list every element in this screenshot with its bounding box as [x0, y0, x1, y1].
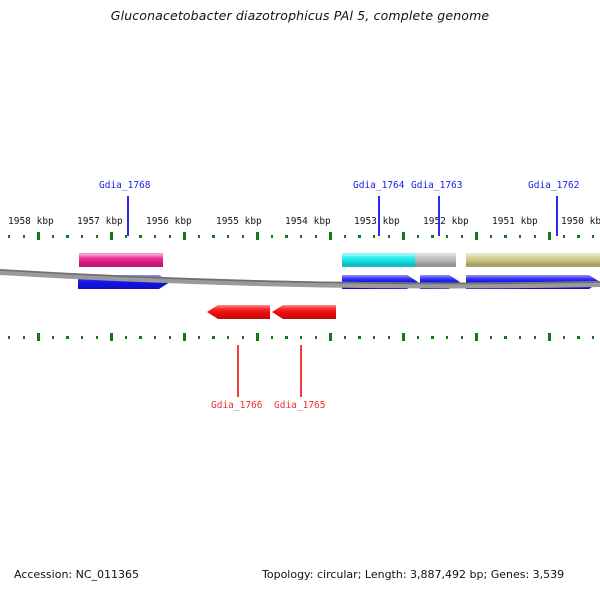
gene-density-dot [431, 336, 433, 339]
gene-density-dot [169, 336, 171, 339]
gene-density-dot [300, 235, 302, 238]
gene-label-gdia_1766[interactable]: Gdia_1766 [211, 400, 262, 411]
gene-density-dot [227, 336, 229, 339]
gene-density-tick [183, 232, 186, 240]
gene-density-dot [344, 235, 346, 238]
gene-density-dot [534, 336, 536, 339]
gene-density-tick [37, 232, 40, 240]
gene-density-tick [548, 232, 551, 240]
gene-density-dot [592, 336, 594, 339]
page-title: Gluconacetobacter diazotrophicus PAl 5, … [0, 8, 600, 23]
genome-viewer-canvas: Gluconacetobacter diazotrophicus PAl 5, … [0, 0, 600, 600]
ruler-tick-label: 1953 kbp [354, 216, 400, 227]
gene-density-tick [548, 333, 551, 341]
gene-label-gdia_1764[interactable]: Gdia_1764 [353, 180, 404, 191]
gene-density-tick [402, 232, 405, 240]
gene-density-dot [417, 336, 419, 339]
gene-density-dot [315, 235, 317, 238]
gene-density-dot [8, 235, 10, 238]
gene-density-dot [563, 235, 565, 238]
gene-density-dot [373, 235, 375, 238]
gene-density-dot [8, 336, 10, 339]
gene-density-dot [271, 336, 273, 339]
ruler-tick-label: 1954 kbp [285, 216, 331, 227]
gene-density-tick [402, 333, 405, 341]
gene-density-tick [183, 333, 186, 341]
gene-density-dot [461, 235, 463, 238]
gene-density-dot [52, 336, 54, 339]
gene-density-dot [271, 235, 273, 238]
genome-summary-text: Topology: circular; Length: 3,887,492 bp… [262, 568, 564, 581]
feature-shape [207, 305, 270, 319]
gene-density-dot [519, 235, 521, 238]
gene-density-dot [139, 336, 141, 339]
gene-label-gdia_1765[interactable]: Gdia_1765 [274, 400, 325, 411]
gene-density-tick [37, 333, 40, 341]
gene-density-dot [417, 235, 419, 238]
gene-density-dot [23, 336, 25, 339]
gene-density-dot [23, 235, 25, 238]
gene-density-dot [154, 336, 156, 339]
gene-density-dot [358, 336, 360, 339]
feature-sheen [207, 305, 270, 319]
gene-density-dot [96, 235, 98, 238]
gene-density-dot [446, 336, 448, 339]
gene-density-tick [256, 333, 259, 341]
gene-density-tick [475, 333, 478, 341]
gene-density-dot [577, 235, 579, 238]
ruler-tick-label: 1958 kbp [8, 216, 54, 227]
gene-leader-line [127, 196, 129, 236]
gene-density-dot [212, 235, 214, 238]
gene-label-gdia_1768[interactable]: Gdia_1768 [99, 180, 150, 191]
gene-density-dot [66, 336, 68, 339]
feature-shape [272, 305, 336, 319]
gene-density-dot [388, 235, 390, 238]
ruler-tick-label: 1951 kbp [492, 216, 538, 227]
gdia-1765-gene-arrow[interactable] [272, 305, 336, 319]
gene-density-dot [198, 336, 200, 339]
gene-label-gdia_1762[interactable]: Gdia_1762 [528, 180, 579, 191]
gene-density-tick [256, 232, 259, 240]
gene-density-dot [431, 235, 433, 238]
ruler-tick-label: 1957 kbp [77, 216, 123, 227]
gene-density-dot [96, 336, 98, 339]
gene-label-gdia_1763[interactable]: Gdia_1763 [411, 180, 462, 191]
gene-density-dot [81, 336, 83, 339]
gene-density-dot [81, 235, 83, 238]
gene-density-tick [329, 333, 332, 341]
gene-density-dot [388, 336, 390, 339]
feature-sheen [272, 305, 336, 319]
gene-density-dot [490, 235, 492, 238]
gene-density-dot [577, 336, 579, 339]
gene-density-dot [125, 336, 127, 339]
gene-density-dot [66, 235, 68, 238]
gene-leader-line [438, 196, 440, 236]
gene-density-dot [242, 336, 244, 339]
gene-density-dot [169, 235, 171, 238]
gene-density-dot [315, 336, 317, 339]
gene-density-dot [285, 336, 287, 339]
gene-density-tick [329, 232, 332, 240]
ruler-tick-label: 1950 kbp [561, 216, 600, 227]
gene-density-dot [139, 235, 141, 238]
gene-density-dot [592, 235, 594, 238]
gene-density-dot [504, 235, 506, 238]
gene-leader-line [556, 196, 558, 236]
ruler-tick-label: 1952 kbp [423, 216, 469, 227]
gene-density-dot [358, 235, 360, 238]
gene-density-dot [285, 235, 287, 238]
ruler-tick-label: 1956 kbp [146, 216, 192, 227]
accession-text: Accession: NC_011365 [14, 568, 139, 581]
genome-axis-svg [0, 264, 600, 300]
gene-density-dot [504, 336, 506, 339]
gene-density-dot [373, 336, 375, 339]
genome-axis [0, 264, 600, 300]
gene-density-dot [519, 336, 521, 339]
gene-density-tick [110, 333, 113, 341]
gene-density-dot [461, 336, 463, 339]
ruler-tick-label: 1955 kbp [216, 216, 262, 227]
gene-leader-line [378, 196, 380, 236]
gene-density-dot [300, 336, 302, 339]
gene-density-dot [534, 235, 536, 238]
gene-density-dot [446, 235, 448, 238]
gene-density-tick [110, 232, 113, 240]
gene-leader-line [300, 345, 302, 397]
gene-leader-line [237, 345, 239, 397]
gdia-1766-gene-arrow[interactable] [207, 305, 270, 319]
gene-density-dot [344, 336, 346, 339]
gene-density-dot [52, 235, 54, 238]
gene-density-dot [563, 336, 565, 339]
gene-density-dot [212, 336, 214, 339]
gene-density-dot [227, 235, 229, 238]
gene-density-dot [198, 235, 200, 238]
gene-density-dot [490, 336, 492, 339]
gene-density-dot [154, 235, 156, 238]
gene-density-tick [475, 232, 478, 240]
gene-density-dot [242, 235, 244, 238]
